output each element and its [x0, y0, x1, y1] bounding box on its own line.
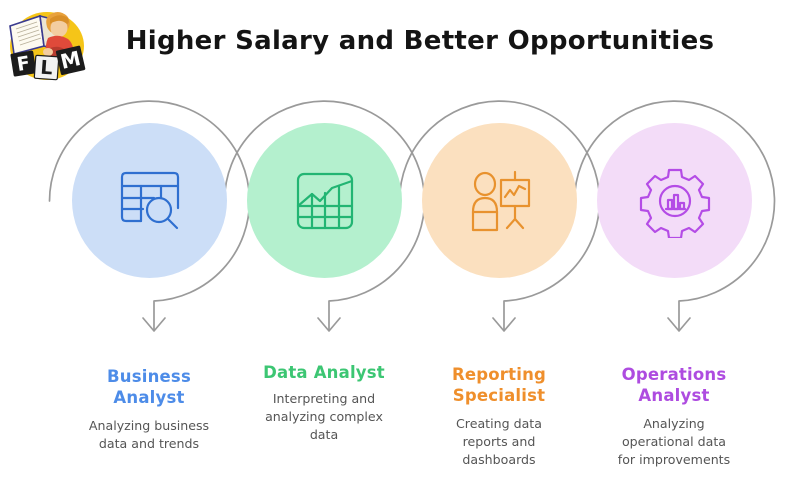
role-description-reporting-specialist: Creating data reports and dashboards — [406, 415, 592, 469]
label-block-business-analyst: Business Analyst Analyzing business data… — [56, 366, 242, 453]
label-block-data-analyst: Data Analyst Interpreting and analyzing … — [231, 362, 417, 444]
role-title-reporting-specialist: Reporting Specialist — [406, 364, 592, 406]
node-circle-business-analyst[interactable] — [72, 123, 227, 278]
node-circle-data-analyst[interactable] — [247, 123, 402, 278]
role-description-business-analyst: Analyzing business data and trends — [56, 417, 242, 453]
chart-grid-icon — [288, 164, 362, 238]
role-title-data-analyst: Data Analyst — [231, 362, 417, 383]
infographic-canvas: F L M Higher Salary and Better Opportuni… — [0, 0, 800, 500]
page-title: Higher Salary and Better Opportunities — [100, 26, 740, 56]
presenter-board-icon — [463, 164, 537, 238]
role-title-operations-analyst: Operations Analyst — [581, 364, 767, 406]
node-circle-reporting-specialist[interactable] — [422, 123, 577, 278]
role-description-operations-analyst: Analyzing operational data for improveme… — [581, 415, 767, 469]
role-title-business-analyst: Business Analyst — [56, 366, 242, 408]
node-circle-operations-analyst[interactable] — [597, 123, 752, 278]
table-search-icon — [113, 164, 187, 238]
label-block-reporting-specialist: Reporting Specialist Creating data repor… — [406, 364, 592, 469]
flm-logo: F L M — [4, 2, 90, 88]
label-block-operations-analyst: Operations Analyst Analyzing operational… — [581, 364, 767, 469]
svg-text:L: L — [40, 57, 54, 80]
role-description-data-analyst: Interpreting and analyzing complex data — [231, 390, 417, 444]
gear-bar-chart-icon — [638, 164, 712, 238]
